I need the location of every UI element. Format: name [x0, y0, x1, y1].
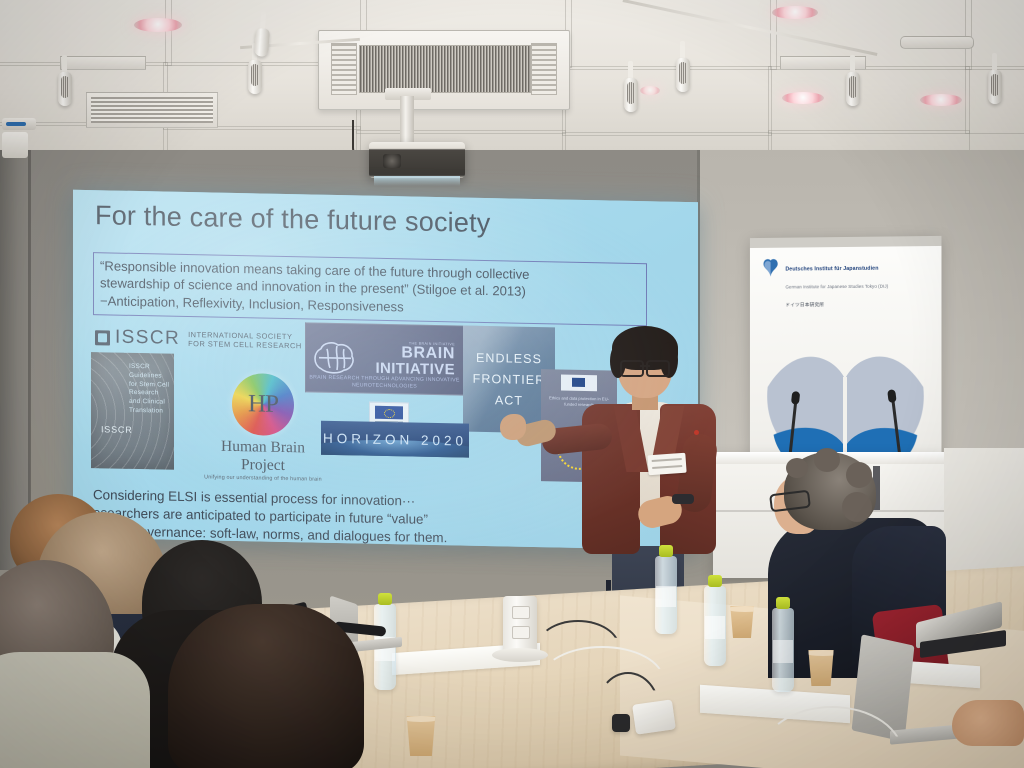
dij-title-jp: ドイツ日本研究所: [785, 302, 824, 307]
ceiling-vent: [60, 56, 146, 70]
efa-line-1: ENDLESS: [476, 351, 542, 366]
power-socket-icon: [512, 626, 530, 639]
laptop: [916, 612, 1006, 660]
attendee-hair-curl: [786, 458, 808, 478]
adapter-plug: [612, 714, 630, 732]
horizon-2020-label: HORIZON 2020: [321, 421, 469, 458]
wall-bracket: [2, 132, 28, 158]
isscr-guidelines-booklet: ISSCR Guidelines for Stem Cell Research …: [91, 352, 174, 470]
ceiling-projector: [369, 142, 465, 178]
audience-torso: [0, 652, 150, 768]
audience-head: [168, 604, 364, 768]
projector-lens-icon: [383, 154, 401, 168]
brain-initiative-text: THE BRAIN INITIATIVE BRAIN INITIATIVE: [357, 341, 458, 379]
photo-scene: For the care of the future society “Resp…: [0, 0, 1024, 768]
booklet-logo-text: ISSCR: [101, 424, 133, 435]
ginkgo-leaf-icon: [762, 258, 780, 278]
ceiling-downlight: [640, 86, 660, 95]
attendee-hair-curl: [846, 462, 872, 488]
efa-line-2: FRONTIER: [473, 372, 546, 387]
cup-rim: [403, 716, 439, 722]
attendee-hair-curl: [814, 448, 840, 472]
efa-line-3: ACT: [495, 393, 523, 408]
microphone-head-icon: [887, 389, 897, 403]
dij-title-de: Deutsches Institut für Japanstudien: [785, 266, 878, 273]
dij-logo: Deutsches Institut für Japanstudien Germ…: [762, 257, 888, 312]
wall-sensor-device: [2, 118, 36, 130]
brain-initiative-logo: THE BRAIN INITIATIVE BRAIN INITIATIVE BR…: [305, 322, 464, 395]
isscr-subtitle: INTERNATIONAL SOCIETY FOR STEM CELL RESE…: [188, 330, 302, 350]
water-bottle: [704, 586, 726, 666]
hbp-tagline: Unifying our understanding of the human …: [203, 474, 323, 482]
booklet-title: ISSCR Guidelines for Stem Cell Research …: [129, 363, 171, 416]
presenter-lapel-pin: [694, 430, 699, 435]
brain-icon: [311, 339, 357, 378]
bottle-cap: [708, 575, 722, 587]
water-bottle: [655, 556, 677, 634]
bottle-label: [773, 640, 793, 664]
bottle-label: [656, 586, 676, 608]
typing-hands: [952, 700, 1024, 746]
bottle-cap: [659, 545, 673, 557]
ceiling-downlight: [134, 18, 182, 32]
dij-titles: Deutsches Institut für Japanstudien Germ…: [785, 257, 888, 312]
ceiling-vent: [900, 36, 974, 49]
power-socket-icon: [512, 606, 530, 619]
horizon-2020-banner: HORIZON 2020: [321, 421, 469, 458]
bottle-label: [705, 616, 725, 638]
ceiling-downlight: [920, 94, 962, 106]
isscr-glyph-icon: [95, 330, 110, 345]
presenter-wristwatch: [672, 494, 694, 504]
presenter-glasses-icon: [620, 360, 670, 373]
ceiling-vent: [86, 92, 218, 128]
hbp-globe-icon: [232, 373, 294, 436]
isscr-logo: ISSCR INTERNATIONAL SOCIETY FOR STEM CEL…: [95, 326, 302, 352]
power-tower-base: [492, 648, 548, 662]
brain-initiative-footer: BRAIN RESEARCH THROUGH ADVANCING INNOVAT…: [306, 374, 463, 390]
isscr-subtitle-line-2: FOR STEM CELL RESEARCH: [188, 339, 302, 350]
water-bottle: [772, 608, 794, 692]
attendee-hair-curl: [842, 492, 872, 522]
bottle-cap: [776, 597, 790, 609]
ceiling-downlight: [782, 92, 824, 104]
dij-title-en: German Institute for Japanese Studies To…: [785, 284, 888, 290]
power-tower: [503, 596, 537, 654]
banner-top-rail: [750, 236, 942, 248]
isscr-wordmark: ISSCR: [115, 327, 180, 350]
ceiling-downlight: [772, 6, 818, 19]
presenter-name-badge: [647, 453, 686, 476]
projector-light-beam: [374, 176, 460, 186]
ceiling-ac-unit: [318, 30, 570, 110]
eu-flag-icon: [375, 406, 403, 420]
hbp-name: Human Brain Project: [203, 437, 323, 475]
presenter-hand-left: [500, 414, 526, 440]
